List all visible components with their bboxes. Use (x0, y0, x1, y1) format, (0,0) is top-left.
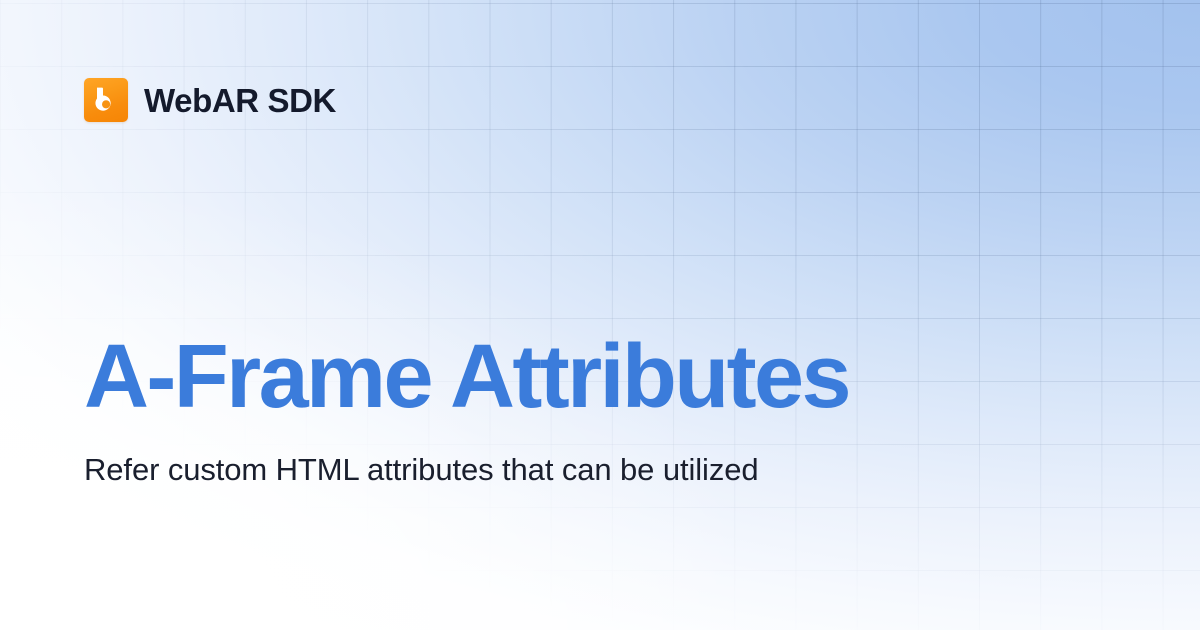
banner-copy: A-Frame Attributes Refer custom HTML att… (84, 330, 1084, 492)
brand-name: WebAR SDK (144, 84, 336, 117)
webar-b-logo-icon (84, 78, 128, 122)
og-banner: WebAR SDK A-Frame Attributes Refer custo… (0, 0, 1200, 630)
page-subtitle: Refer custom HTML attributes that can be… (84, 449, 814, 492)
page-title: A-Frame Attributes (84, 330, 1084, 425)
brand-lockup: WebAR SDK (84, 78, 336, 122)
